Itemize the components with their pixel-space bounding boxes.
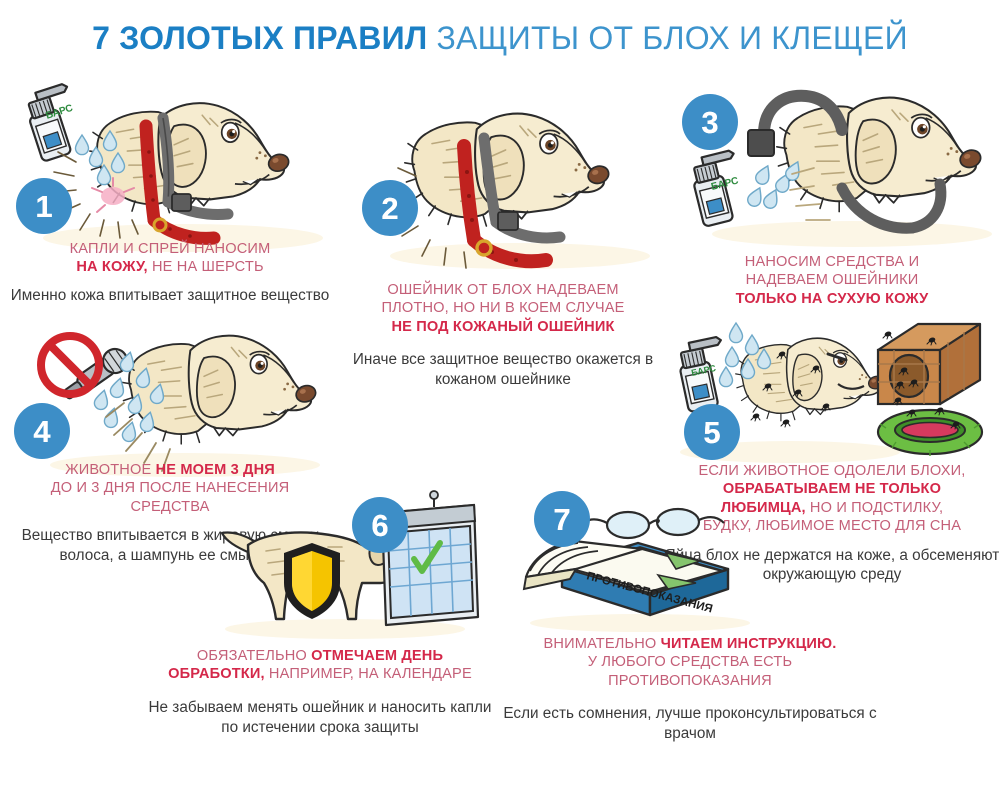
rule-caption-2: ОШЕЙНИК ОТ БЛОХ НАДЕВАЕМПЛОТНО, НО НИ В … bbox=[338, 281, 668, 390]
rule-headline-3: НАНОСИМ СРЕДСТВА ИНАДЕВАЕМ ОШЕЙНИКИТОЛЬК… bbox=[664, 253, 1000, 308]
rule-caption-1: КАПЛИ И СПРЕЙ НАНОСИМНА КОЖУ, НЕ НА ШЕРС… bbox=[10, 240, 330, 306]
rule-headline-7: ВНИМАТЕЛЬНО ЧИТАЕМ ИНСТРУКЦИЮ.У ЛЮБОГО С… bbox=[500, 635, 880, 690]
rule-block-2: 2 ОШЕЙНИК ОТ БЛОХ НАДЕВАЕМПЛОТНО, НО НИ … bbox=[338, 78, 668, 378]
illustration-dog-two-collars bbox=[360, 80, 660, 270]
page-title-light: ЗАЩИТЫ ОТ БЛОХ И КЛЕЩЕЙ bbox=[437, 20, 908, 56]
rule-block-6: 6 ОБЯЗАТЕЛЬНО ОТМЕЧАЕМ ДЕНЬОБРАБОТКИ, НА… bbox=[140, 487, 500, 757]
rule-badge-6: 6 bbox=[352, 497, 408, 553]
rule-block-1: БАРС bbox=[0, 78, 340, 338]
infographic-page: 7 ЗОЛОТЫХ ПРАВИЛ ЗАЩИТЫ ОТ БЛОХ И КЛЕЩЕЙ bbox=[0, 0, 1000, 787]
rule-body-2: Иначе все защитное вещество окажется в к… bbox=[338, 350, 668, 390]
rule-body-1: Именно кожа впитывает защитное вещество bbox=[10, 286, 330, 306]
rule-caption-3: НАНОСИМ СРЕДСТВА ИНАДЕВАЕМ ОШЕЙНИКИТОЛЬК… bbox=[664, 253, 1000, 308]
rule-headline-2: ОШЕЙНИК ОТ БЛОХ НАДЕВАЕМПЛОТНО, НО НИ В … bbox=[338, 281, 668, 336]
rule-badge-3: 3 bbox=[682, 94, 738, 150]
rule-badge-4: 4 bbox=[14, 403, 70, 459]
rule-block-7: ПРОТИВОПОКАЗАНИЯ 7 ВНИМАТЕЛЬНО ЧИТАЕМ ИН… bbox=[500, 487, 880, 757]
rule-headline-6: ОБЯЗАТЕЛЬНО ОТМЕЧАЕМ ДЕНЬОБРАБОТКИ, НАПР… bbox=[140, 647, 500, 684]
rule-block-3: БАРС 3 НАНОСИМ СРЕДСТВА ИНАДЕВАЕМ ОШЕЙНИ… bbox=[664, 78, 1000, 308]
page-title-bold: 7 ЗОЛОТЫХ ПРАВИЛ bbox=[92, 20, 427, 56]
rule-headline-1: КАПЛИ И СПРЕЙ НАНОСИМНА КОЖУ, НЕ НА ШЕРС… bbox=[10, 240, 330, 277]
rule-body-6: Не забываем менять ошейник и наносить ка… bbox=[140, 698, 500, 738]
rule-badge-7: 7 bbox=[534, 491, 590, 547]
page-title: 7 ЗОЛОТЫХ ПРАВИЛ ЗАЩИТЫ ОТ БЛОХ И КЛЕЩЕЙ bbox=[0, 20, 1000, 57]
rule-badge-2: 2 bbox=[362, 180, 418, 236]
illustration-dog-no-washing bbox=[20, 325, 330, 475]
rule-caption-6: ОБЯЗАТЕЛЬНО ОТМЕЧАЕМ ДЕНЬОБРАБОТКИ, НАПР… bbox=[140, 647, 500, 738]
rule-badge-1: 1 bbox=[16, 178, 72, 234]
rule-caption-7: ВНИМАТЕЛЬНО ЧИТАЕМ ИНСТРУКЦИЮ.У ЛЮБОГО С… bbox=[500, 635, 880, 744]
rule-badge-5: 5 bbox=[684, 404, 740, 460]
illustration-dog-drops-on-skin: БАРС bbox=[18, 78, 338, 253]
rule-body-7: Если есть сомнения, лучше проконсультиро… bbox=[500, 704, 880, 744]
